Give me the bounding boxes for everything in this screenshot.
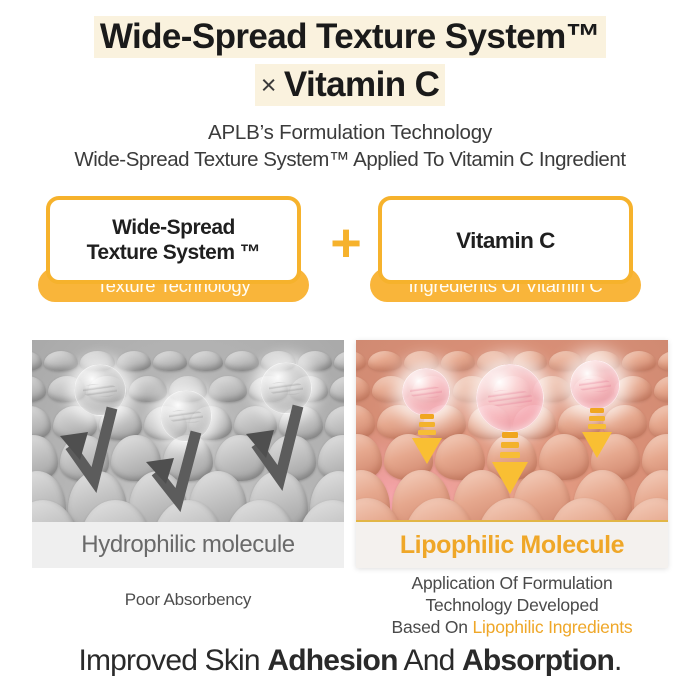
panel-hydrophilic: Hydrophilic molecule — [32, 340, 344, 568]
lipophilic-subcaption-line-3-highlight: Lipophilic Ingredients — [472, 617, 632, 637]
panel-lipophilic-illustration — [356, 340, 668, 520]
panel-lipophilic-caption-text: Lipophilic Molecule — [400, 531, 624, 560]
title-line-1: Wide-Spread Texture System™ — [0, 16, 700, 58]
panel-hydrophilic-subcaption: Poor Absorbency — [32, 590, 344, 610]
absorb-arrow-icon — [580, 408, 614, 466]
panel-hydrophilic-illustration — [32, 340, 344, 522]
footer-bold-absorption: Absorption — [462, 644, 614, 677]
lipophilic-subcaption-line-3-plain: Based On — [392, 617, 473, 637]
bounce-arrow-icon — [54, 402, 144, 502]
absorb-arrow-icon — [410, 414, 444, 472]
subtitle: APLB’s Formulation Technology Wide-Sprea… — [0, 120, 700, 173]
comparison-panels: Hydrophilic molecule — [0, 340, 700, 570]
footer-tagline: Improved Skin Adhesion And Absorption. — [0, 644, 700, 678]
absorb-arrow-icon — [489, 432, 531, 504]
page-title: Wide-Spread Texture System™ ×Vitamin C — [0, 16, 700, 106]
lipophilic-subcaption-line-2: Technology Developed — [356, 594, 668, 616]
badge-left-title-line-2: Texture System ™ — [87, 241, 261, 264]
badge-left-title: Wide-Spread Texture System ™ — [87, 215, 261, 265]
panel-lipophilic-caption: Lipophilic Molecule — [356, 520, 668, 568]
infographic-page: Wide-Spread Texture System™ ×Vitamin C A… — [0, 0, 700, 700]
badge-left-box: Wide-Spread Texture System ™ — [46, 196, 301, 284]
title-line-1-text: Wide-Spread Texture System™ — [94, 16, 606, 58]
lipophilic-subcaption-line-1: Application Of Formulation — [356, 572, 668, 594]
panel-hydrophilic-caption-text: Hydrophilic molecule — [81, 531, 294, 559]
badge-vitamin-c: Vitamin C Ingredients Of Vitamin C — [378, 196, 633, 284]
multiply-icon: × — [261, 70, 284, 100]
footer-part-3: . — [614, 644, 622, 677]
lipophilic-molecule-bubble — [476, 364, 544, 432]
badge-right-title: Vitamin C — [456, 228, 555, 253]
title-line-2: ×Vitamin C — [0, 64, 700, 106]
panel-hydrophilic-caption: Hydrophilic molecule — [32, 522, 344, 568]
skin-surface-gray — [32, 340, 344, 522]
skin-surface-pink — [356, 340, 668, 520]
lipophilic-molecule-bubble — [570, 360, 620, 410]
badge-row: Wide-Spread Texture System ™ Texture Tec… — [0, 196, 700, 324]
footer-part-2: And — [398, 644, 462, 677]
footer-bold-adhesion: Adhesion — [267, 644, 397, 677]
subtitle-line-2: Wide-Spread Texture System™ Applied To V… — [0, 146, 700, 173]
lipophilic-subcaption-line-3: Based On Lipophilic Ingredients — [356, 616, 668, 638]
bounce-arrow-icon — [140, 428, 230, 522]
panel-lipophilic-subcaption: Application Of Formulation Technology De… — [356, 572, 668, 638]
plus-icon: + — [322, 220, 370, 268]
footer-part-1: Improved Skin — [78, 644, 267, 677]
title-line-2-group: ×Vitamin C — [255, 64, 446, 106]
subtitle-line-1: APLB’s Formulation Technology — [0, 120, 700, 146]
title-line-2-text: Vitamin C — [284, 65, 439, 104]
badge-texture-technology: Wide-Spread Texture System ™ Texture Tec… — [46, 196, 301, 284]
panel-lipophilic: Lipophilic Molecule — [356, 340, 668, 568]
lipophilic-molecule-bubble — [402, 368, 450, 416]
badge-right-box: Vitamin C — [378, 196, 633, 284]
badge-left-title-line-1: Wide-Spread — [112, 216, 235, 239]
bounce-arrow-icon — [240, 400, 330, 500]
